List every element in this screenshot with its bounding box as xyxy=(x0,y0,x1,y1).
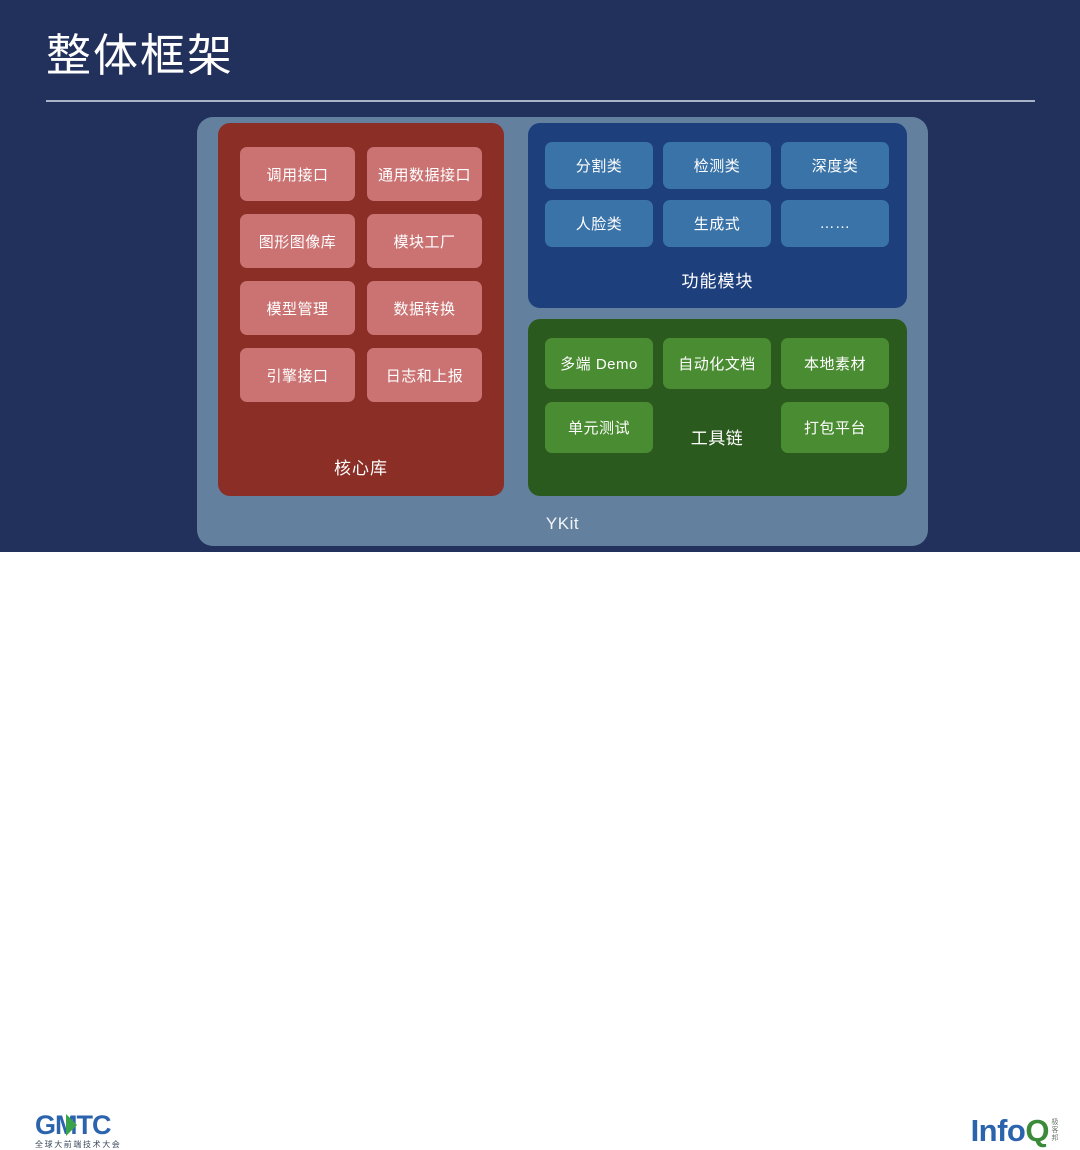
panel-function-modules: 分割类 检测类 深度类 人脸类 生成式 …… 功能模块 xyxy=(528,123,907,308)
infoq-vertical-text: 极客邦 xyxy=(1050,1118,1058,1142)
card-function-0[interactable]: 分割类 xyxy=(545,142,653,189)
panel-core-library-label: 核心库 xyxy=(218,454,504,479)
gmtc-subtitle: 全球大前端技术大会 xyxy=(35,1140,139,1150)
card-function-3[interactable]: 人脸类 xyxy=(545,200,653,247)
infoq-logo: Info Q 极客邦 xyxy=(971,1114,1058,1148)
card-core-0[interactable]: 调用接口 xyxy=(240,147,355,201)
panel-core-library: 调用接口 通用数据接口 图形图像库 模块工厂 模型管理 数据转换 引擎接口 日志… xyxy=(218,123,504,496)
card-tool-4[interactable]: 打包平台 xyxy=(781,402,889,453)
slide-stage: 整体框架 调用接口 通用数据接口 图形图像库 模块工厂 模型管理 数据转换 引擎… xyxy=(0,0,1080,552)
card-function-5[interactable]: …… xyxy=(781,200,889,247)
card-tool-0[interactable]: 多端 Demo xyxy=(545,338,653,389)
card-function-4[interactable]: 生成式 xyxy=(663,200,771,247)
toolchain-card-grid: 多端 Demo 自动化文档 本地素材 单元测试 工具链 打包平台 xyxy=(545,338,890,453)
page-title: 整体框架 xyxy=(46,27,234,85)
gmtc-triangle-icon xyxy=(66,1114,77,1136)
core-card-grid: 调用接口 通用数据接口 图形图像库 模块工厂 模型管理 数据转换 引擎接口 日志… xyxy=(240,147,482,402)
card-tool-1[interactable]: 自动化文档 xyxy=(663,338,771,389)
card-core-3[interactable]: 模块工厂 xyxy=(367,214,482,268)
card-core-6[interactable]: 引擎接口 xyxy=(240,348,355,402)
slide-footer: GMTC 全球大前端技术大会 Info Q 极客邦 xyxy=(0,552,1080,608)
card-tool-2[interactable]: 本地素材 xyxy=(781,338,889,389)
panel-toolchain: 多端 Demo 自动化文档 本地素材 单元测试 工具链 打包平台 xyxy=(528,319,907,496)
gmtc-wordmark: GMTC xyxy=(35,1113,139,1137)
slide-root: 整体框架 调用接口 通用数据接口 图形图像库 模块工厂 模型管理 数据转换 引擎… xyxy=(0,0,1080,608)
title-divider xyxy=(46,100,1035,102)
card-core-4[interactable]: 模型管理 xyxy=(240,281,355,335)
gmtc-logo: GMTC 全球大前端技术大会 xyxy=(35,1113,139,1149)
infoq-wordmark-info: Info xyxy=(971,1114,1026,1147)
card-core-7[interactable]: 日志和上报 xyxy=(367,348,482,402)
card-core-5[interactable]: 数据转换 xyxy=(367,281,482,335)
ykit-container-label: YKit xyxy=(197,514,928,534)
panel-toolchain-label: 工具链 xyxy=(663,402,771,453)
panel-function-modules-label: 功能模块 xyxy=(528,267,907,292)
ykit-container: 调用接口 通用数据接口 图形图像库 模块工厂 模型管理 数据转换 引擎接口 日志… xyxy=(197,117,928,546)
card-core-1[interactable]: 通用数据接口 xyxy=(367,147,482,201)
card-tool-3[interactable]: 单元测试 xyxy=(545,402,653,453)
card-function-1[interactable]: 检测类 xyxy=(663,142,771,189)
function-card-grid: 分割类 检测类 深度类 人脸类 生成式 …… xyxy=(545,142,890,247)
infoq-wordmark-q: Q xyxy=(1025,1114,1049,1147)
card-function-2[interactable]: 深度类 xyxy=(781,142,889,189)
card-core-2[interactable]: 图形图像库 xyxy=(240,214,355,268)
